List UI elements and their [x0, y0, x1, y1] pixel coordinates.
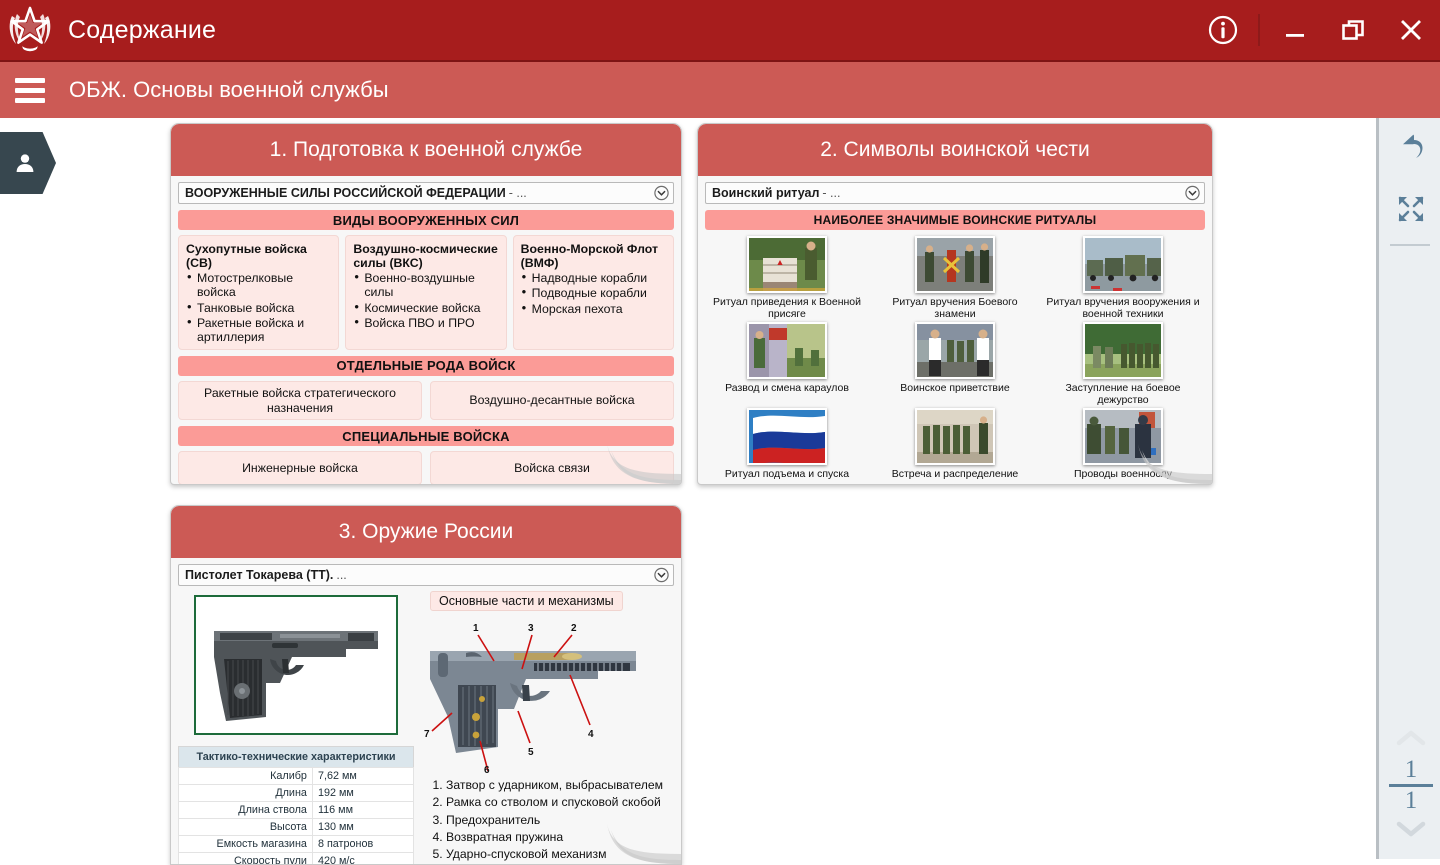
ritual-caption: Ритуал подъема и спуска: [725, 468, 849, 480]
ritual-item[interactable]: Ритуал вручения вооружения и военной тех…: [1041, 236, 1205, 320]
title-bar: Содержание: [0, 0, 1440, 62]
part-item: Предохранитель: [446, 812, 674, 829]
panel-3-title: 3. Оружие России: [171, 506, 681, 558]
russian-flag-photo: [747, 408, 827, 465]
panel-1-title: 1. Подготовка к военной службе: [171, 124, 681, 176]
current-page: 1: [1405, 757, 1418, 783]
user-profile-tab[interactable]: [0, 132, 56, 194]
part-item: Возвратная пружина: [446, 829, 674, 846]
branch-title: Военно-Морской Флот (ВМФ): [521, 242, 666, 270]
table-row: Длина 192 мм: [179, 785, 414, 802]
ritual-item[interactable]: Ритуал подъема и спуска: [705, 408, 869, 480]
branch-title: Сухопутные войска (СВ): [186, 242, 331, 270]
diagram-label: 2: [571, 623, 577, 634]
ritual-caption: Ритуал вручения Боевого знамени: [873, 296, 1037, 320]
ritual-item[interactable]: Развод и смена караулов: [705, 322, 869, 406]
soldier-oath-photo: [747, 236, 827, 293]
branch-item: Военно-воздушные силы: [353, 271, 498, 299]
table-row: Емкость магазина 8 патронов: [179, 836, 414, 853]
spec-value: 192 мм: [312, 785, 413, 802]
star-wreath-emblem-icon: [2, 2, 58, 58]
panel-3-body: Пистолет Токарева (ТТ). ...: [171, 558, 681, 864]
banner-ceremony-photo: [915, 236, 995, 293]
back-button[interactable]: [1379, 118, 1440, 176]
table-row: Калибр 7,62 мм: [179, 768, 414, 785]
chevron-down-circle-icon[interactable]: [654, 568, 669, 583]
ritual-caption: Заступление на боевое дежурство: [1041, 382, 1205, 406]
minimize-icon[interactable]: [1266, 0, 1324, 61]
chevron-down-circle-icon[interactable]: [1185, 186, 1200, 201]
troop-box-rvsn[interactable]: Ракетные войска стратегического назначен…: [178, 381, 422, 421]
panel-2-body: Воинский ритуал - ... НАИБОЛЕЕ ЗНАЧИМЫЕ …: [698, 176, 1212, 484]
diagram-label: 4: [588, 729, 594, 740]
panel-card-3[interactable]: 3. Оружие России Пистолет Токарева (ТТ).…: [170, 505, 682, 865]
spec-value: 116 мм: [312, 802, 413, 819]
page-up-button[interactable]: [1394, 724, 1428, 757]
salute-photo: [915, 322, 995, 379]
total-pages: 1: [1405, 788, 1418, 814]
section-heading-rituals: НАИБОЛЕЕ ЗНАЧИМЫЕ ВОИНСКИЕ РИТУАЛЫ: [705, 210, 1205, 230]
diagram-label: 3: [528, 623, 534, 634]
troop-box-engineering[interactable]: Инженерные войска: [178, 451, 422, 485]
hamburger-menu-icon[interactable]: [0, 62, 60, 118]
section-heading-specialnye: СПЕЦИАЛЬНЫЕ ВОЙСКА: [178, 426, 674, 446]
panel-1-subject: ВООРУЖЕННЫЕ СИЛЫ РОССИЙСКОЙ ФЕДЕРАЦИИ: [185, 186, 506, 200]
branch-item: Подводные корабли: [521, 286, 666, 300]
part-item: Рамка со стволом и спусковой скобой: [446, 794, 674, 811]
section-heading-vidy: ВИДЫ ВООРУЖЕННЫХ СИЛ: [178, 210, 674, 230]
ritual-item[interactable]: Ритуал приведения к Военной присяге: [705, 236, 869, 320]
page-down-button[interactable]: [1394, 814, 1428, 847]
spec-key: Длина: [179, 785, 313, 802]
user-person-icon: [13, 151, 37, 175]
ritual-item[interactable]: Встреча и распределение: [873, 408, 1037, 480]
farewell-photo: [1083, 408, 1163, 465]
spec-table-caption: Тактико-технические характеристики: [178, 746, 414, 767]
toolbar-divider: [1390, 244, 1430, 246]
troop-box-signal[interactable]: Войска связи: [430, 451, 674, 485]
part-item: Затвор с ударником, выбрасывателем: [446, 777, 674, 794]
weapon-content: Тактико-технические характеристики Калиб…: [178, 591, 674, 865]
close-icon[interactable]: [1382, 0, 1440, 61]
course-title: ОБЖ. Основы военной службы: [69, 77, 389, 103]
branch-item: Надводные корабли: [521, 271, 666, 285]
info-icon[interactable]: [1194, 0, 1252, 61]
panel-2-subject-bar[interactable]: Воинский ритуал - ...: [705, 182, 1205, 204]
troop-box-vdv[interactable]: Воздушно-десантные войска: [430, 381, 674, 421]
ritual-caption: Встреча и распределение: [892, 468, 1019, 480]
branch-box-sv[interactable]: Сухопутные войска (СВ) Мотострелковые во…: [178, 235, 339, 350]
spec-key: Высота: [179, 819, 313, 836]
panel-card-2[interactable]: 2. Символы воинской чести Воинский ритуа…: [697, 123, 1213, 485]
spec-value: 7,62 мм: [312, 768, 413, 785]
branch-item: Войска ПВО и ПРО: [353, 316, 498, 330]
parts-badge: Основные части и механизмы: [430, 591, 623, 611]
spec-value: 8 патронов: [312, 836, 413, 853]
pager: 1 1: [1379, 724, 1440, 848]
undo-arrow-icon: [1394, 130, 1428, 164]
parts-list: Затвор с ударником, выбрасывателем Рамка…: [422, 777, 674, 865]
branch-title: Воздушно-космические силы (ВКС): [353, 242, 498, 270]
panel-3-subject-ellipsis: ...: [336, 568, 346, 582]
diagram-label: 6: [484, 765, 490, 773]
spec-key: Калибр: [179, 768, 313, 785]
chevron-up-icon: [1394, 728, 1428, 748]
specialnye-row: Инженерные войска Войска связи: [178, 451, 674, 485]
ritual-caption: Воинское приветствие: [900, 382, 1009, 394]
ritual-item[interactable]: Заступление на боевое дежурство: [1041, 322, 1205, 406]
branch-item: Мотострелковые войска: [186, 271, 331, 299]
expand-fullscreen-icon: [1394, 192, 1428, 226]
diagram-label: 5: [528, 747, 534, 758]
panel-2-subject-ellipsis: - ...: [822, 186, 840, 200]
branch-item: Танковые войска: [186, 301, 331, 315]
branch-item: Космические войска: [353, 301, 498, 315]
spec-value: 130 мм: [312, 819, 413, 836]
panel-2-title: 2. Символы воинской чести: [698, 124, 1212, 176]
ritual-caption: Проводы военнослу: [1074, 468, 1172, 480]
branch-item: Ракетные войска и артиллерия: [186, 316, 331, 344]
right-toolbar: 1 1: [1376, 118, 1440, 859]
diagram-label: 7: [424, 729, 430, 740]
weapon-right-column: Основные части и механизмы: [422, 591, 674, 865]
combat-duty-photo: [1083, 322, 1163, 379]
window-controls: [1194, 0, 1440, 61]
weapon-diagram: 1 2 3 4 5 6 7: [422, 613, 674, 773]
tt-pistol-photo: [194, 595, 398, 735]
ritual-item[interactable]: Ритуал вручения Боевого знамени: [873, 236, 1037, 320]
otdelnye-row: Ракетные войска стратегического назначен…: [178, 381, 674, 421]
spec-table: Тактико-технические характеристики Калиб…: [178, 746, 414, 865]
ritual-item[interactable]: Воинское приветствие: [873, 322, 1037, 406]
workspace: 1. Подготовка к военной службе ВООРУЖЕНН…: [0, 118, 1440, 859]
ritual-item[interactable]: Проводы военнослу: [1041, 408, 1205, 480]
panel-3-subject-bar[interactable]: Пистолет Токарева (ТТ). ...: [178, 564, 674, 586]
panel-3-subject: Пистолет Токарева (ТТ).: [185, 568, 333, 582]
titlebar-divider: [1258, 14, 1260, 46]
ritual-caption: Ритуал приведения к Военной присяге: [705, 296, 869, 320]
chevron-down-circle-icon[interactable]: [654, 186, 669, 201]
formation-indoor-photo: [915, 408, 995, 465]
table-row: Высота 130 мм: [179, 819, 414, 836]
panel-1-subject-bar[interactable]: ВООРУЖЕННЫЕ СИЛЫ РОССИЙСКОЙ ФЕДЕРАЦИИ - …: [178, 182, 674, 204]
branch-row: Сухопутные войска (СВ) Мотострелковые во…: [178, 235, 674, 350]
part-item: Ударно-спусковой механизм: [446, 846, 674, 863]
panel-card-1[interactable]: 1. Подготовка к военной службе ВООРУЖЕНН…: [170, 123, 682, 485]
ritual-caption: Ритуал вручения вооружения и военной тех…: [1041, 296, 1205, 320]
panel-2-subject: Воинский ритуал: [712, 186, 819, 200]
diagram-label: 1: [473, 623, 479, 634]
panel-1-subject-ellipsis: - ...: [509, 186, 527, 200]
military-vehicles-photo: [1083, 236, 1163, 293]
table-row: Длина ствола 116 мм: [179, 802, 414, 819]
guard-duty-photo: [747, 322, 827, 379]
panel-1-body: ВООРУЖЕННЫЕ СИЛЫ РОССИЙСКОЙ ФЕДЕРАЦИИ - …: [171, 176, 681, 484]
weapon-left-column: Тактико-технические характеристики Калиб…: [178, 591, 414, 865]
app-title: Содержание: [68, 16, 216, 45]
chevron-down-icon: [1394, 818, 1428, 838]
fullscreen-button[interactable]: [1379, 180, 1440, 238]
branch-box-vmf[interactable]: Военно-Морской Флот (ВМФ) Надводные кора…: [513, 235, 674, 350]
branch-box-vks[interactable]: Воздушно-космические силы (ВКС) Военно-в…: [345, 235, 506, 350]
ritual-grid: Ритуал приведения к Военной присяге: [705, 236, 1205, 480]
spec-key: Длина ствола: [179, 802, 313, 819]
ritual-caption: Развод и смена караулов: [725, 382, 849, 394]
section-heading-otdelnye: ОТДЕЛЬНЫЕ РОДА ВОЙСК: [178, 356, 674, 376]
restore-icon[interactable]: [1324, 0, 1382, 61]
sub-header: ОБЖ. Основы военной службы: [0, 62, 1440, 118]
branch-item: Морская пехота: [521, 302, 666, 316]
spec-key: Емкость магазина: [179, 836, 313, 853]
